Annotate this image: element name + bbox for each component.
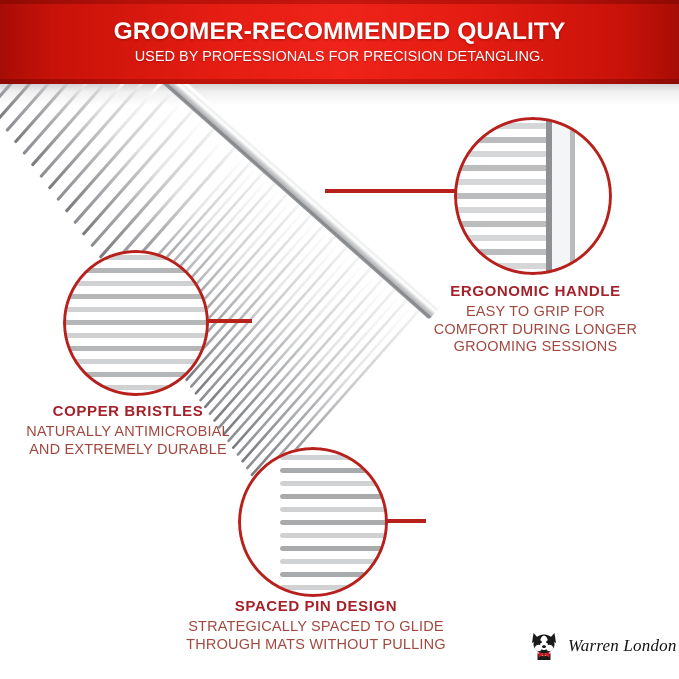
callout-line: NATURALLY ANTIMICROBIAL (8, 424, 248, 442)
connector-line-ergonomic-handle (325, 189, 456, 193)
callout-circle-copper-bristles (63, 250, 209, 396)
brand-wordmark: Warren London (568, 636, 677, 656)
banner-title: GROOMER-RECOMMENDED QUALITY (114, 19, 566, 45)
callout-body-ergonomic-handle: EASY TO GRIP FOR COMFORT DURING LONGER G… (423, 304, 648, 357)
callout-body-spaced-pin-design: STRATEGICALLY SPACED TO GLIDE THROUGH MA… (166, 619, 466, 654)
magnified-bristles-icon (63, 250, 209, 396)
callout-line: STRATEGICALLY SPACED TO GLIDE (166, 619, 466, 637)
connector-line-copper-bristles (207, 319, 252, 323)
callout-line: COMFORT DURING LONGER (423, 322, 648, 340)
callout-body-copper-bristles: NATURALLY ANTIMICROBIAL AND EXTREMELY DU… (8, 424, 248, 459)
callout-line: AND EXTREMELY DURABLE (8, 442, 248, 460)
banner-subtitle: USED BY PROFESSIONALS FOR PRECISION DETA… (135, 50, 545, 65)
callout-text-spaced-pin-design: SPACED PIN DESIGN STRATEGICALLY SPACED T… (166, 598, 466, 654)
callout-circle-spaced-pin-design (238, 447, 388, 597)
infographic-page: GROOMER-RECOMMENDED QUALITY USED BY PROF… (0, 0, 679, 679)
callout-heading-spaced-pin-design: SPACED PIN DESIGN (166, 598, 466, 616)
connector-line-spaced-pin-design (386, 519, 426, 523)
callout-line: THROUGH MATS WITHOUT PULLING (166, 637, 466, 655)
magnified-spaced-pins-icon (238, 447, 388, 597)
header-banner: GROOMER-RECOMMENDED QUALITY USED BY PROF… (0, 0, 679, 84)
brand-logo: Warren London (528, 624, 668, 668)
callout-line: GROOMING SESSIONS (423, 339, 648, 357)
callout-heading-copper-bristles: COPPER BRISTLES (8, 403, 248, 421)
callout-text-copper-bristles: COPPER BRISTLES NATURALLY ANTIMICROBIAL … (8, 403, 248, 459)
callout-heading-ergonomic-handle: ERGONOMIC HANDLE (423, 283, 648, 301)
magnified-comb-spine-icon (454, 117, 612, 275)
callout-line: EASY TO GRIP FOR (423, 304, 648, 322)
callout-text-ergonomic-handle: ERGONOMIC HANDLE EASY TO GRIP FOR COMFOR… (423, 283, 648, 357)
callout-circle-ergonomic-handle (454, 117, 612, 275)
dog-head-bowtie-icon (528, 629, 562, 663)
banner-top-edge (0, 0, 679, 4)
